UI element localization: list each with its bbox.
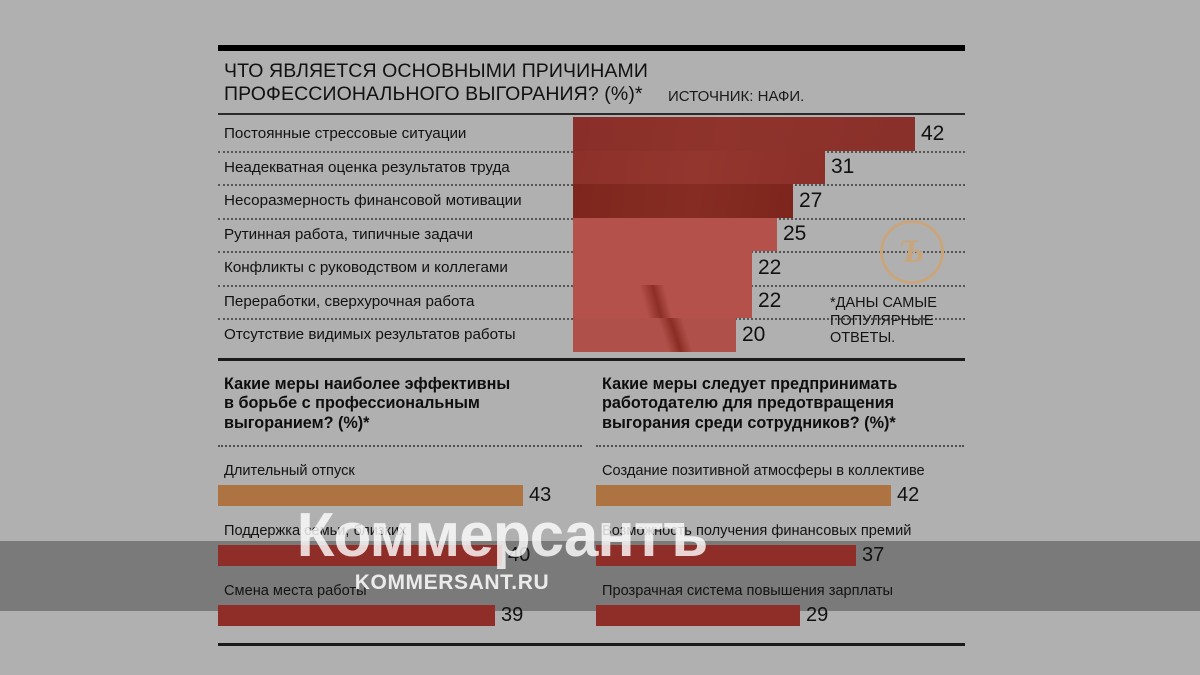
bar-value: 40 <box>508 544 530 567</box>
bar-label: Несоразмерность финансовой мотивации <box>218 192 573 209</box>
bar-track: 42 <box>573 117 965 151</box>
bar-value: 37 <box>862 544 884 567</box>
bar-value: 42 <box>921 122 944 146</box>
lower-column-left: Какие меры наиболее эффективны в борьбе … <box>218 361 591 628</box>
bar-label: Прозрачная система повышения зарплаты <box>596 583 964 599</box>
kommersant-monogram-icon: Ъ <box>880 220 944 284</box>
list-item: Смена места работы 39 <box>218 567 582 627</box>
bar-label: Конфликты с руководством и коллегами <box>218 259 573 276</box>
table-row: Конфликты с руководством и коллегами 22 <box>218 251 965 285</box>
bar-fill <box>573 184 793 218</box>
spacer <box>218 627 965 643</box>
bar-value: 22 <box>758 289 781 313</box>
bar-track: 40 <box>218 544 582 567</box>
bar-fill <box>573 251 752 285</box>
infographic-container: ЧТО ЯВЛЯЕТСЯ ОСНОВНЫМИ ПРИЧИНАМИ ПРОФЕСС… <box>218 45 965 627</box>
bar-fill <box>573 218 777 252</box>
bar-value: 39 <box>501 604 523 627</box>
bar-label: Неадекватная оценка результатов труда <box>218 159 573 176</box>
bar-track: 43 <box>218 484 582 507</box>
bar-value: 22 <box>758 256 781 280</box>
bar-label: Возможность получения финансовых премий <box>596 523 964 539</box>
column-heading: Какие меры следует предпринимать работод… <box>596 361 964 446</box>
monogram-glyph: Ъ <box>899 236 924 269</box>
bar-label: Длительный отпуск <box>218 463 582 479</box>
list-item: Создание позитивной атмосферы в коллекти… <box>596 447 964 507</box>
bar-fill <box>573 285 752 319</box>
bar-label: Поддержка семьи, близких <box>218 523 582 539</box>
bar-value: 25 <box>783 222 806 246</box>
lower-section: Какие меры наиболее эффективны в борьбе … <box>218 361 965 628</box>
lower-column-right: Какие меры следует предпринимать работод… <box>591 361 964 628</box>
list-item: Возможность получения финансовых премий … <box>596 507 964 567</box>
bar-fill <box>573 151 825 185</box>
bar-label: Рутинная работа, типичные задачи <box>218 226 573 243</box>
bar-track: 29 <box>596 604 964 627</box>
bar-value: 31 <box>831 155 854 179</box>
page-title: ЧТО ЯВЛЯЕТСЯ ОСНОВНЫМИ ПРИЧИНАМИ ПРОФЕСС… <box>224 60 648 106</box>
footnote: *ДАНЫ САМЫЕ ПОПУЛЯРНЫЕ ОТВЕТЫ. <box>830 295 970 348</box>
source-label: ИСТОЧНИК: НАФИ. <box>668 88 804 106</box>
bar-value: 43 <box>529 484 551 507</box>
bar-track: 37 <box>596 544 964 567</box>
bar-fill <box>573 318 736 352</box>
list-item: Поддержка семьи, близких 40 <box>218 507 582 567</box>
bottom-rule <box>218 643 965 646</box>
bar-track: 39 <box>218 604 582 627</box>
table-row: Постоянные стрессовые ситуации 42 <box>218 117 965 151</box>
bar-track: 27 <box>573 184 965 218</box>
bar-fill <box>218 485 523 506</box>
table-row: Рутинная работа, типичные задачи 25 <box>218 218 965 252</box>
bar-label: Постоянные стрессовые ситуации <box>218 125 573 142</box>
bar-value: 42 <box>897 484 919 507</box>
bar-fill <box>596 605 800 626</box>
bar-label: Смена места работы <box>218 583 582 599</box>
bar-track: 31 <box>573 151 965 185</box>
bar-fill <box>218 545 502 566</box>
header: ЧТО ЯВЛЯЕТСЯ ОСНОВНЫМИ ПРИЧИНАМИ ПРОФЕСС… <box>218 51 965 113</box>
list-item: Прозрачная система повышения зарплаты 29 <box>596 567 964 627</box>
bar-label: Переработки, сверхурочная работа <box>218 293 573 310</box>
bar-fill <box>596 545 856 566</box>
bar-fill <box>573 117 915 151</box>
bar-value: 20 <box>742 323 765 347</box>
bar-track: 42 <box>596 484 964 507</box>
table-row: Неадекватная оценка результатов труда 31 <box>218 151 965 185</box>
bar-label: Отсутствие видимых результатов работы <box>218 326 573 343</box>
table-row: Несоразмерность финансовой мотивации 27 <box>218 184 965 218</box>
main-chart: Постоянные стрессовые ситуации 42 Неадек… <box>218 115 965 352</box>
bar-fill <box>218 605 495 626</box>
bar-fill <box>596 485 891 506</box>
bar-value: 29 <box>806 604 828 627</box>
bar-value: 27 <box>799 189 822 213</box>
column-heading: Какие меры наиболее эффективны в борьбе … <box>218 361 582 446</box>
list-item: Длительный отпуск 43 <box>218 447 582 507</box>
bar-label: Создание позитивной атмосферы в коллекти… <box>596 463 964 479</box>
